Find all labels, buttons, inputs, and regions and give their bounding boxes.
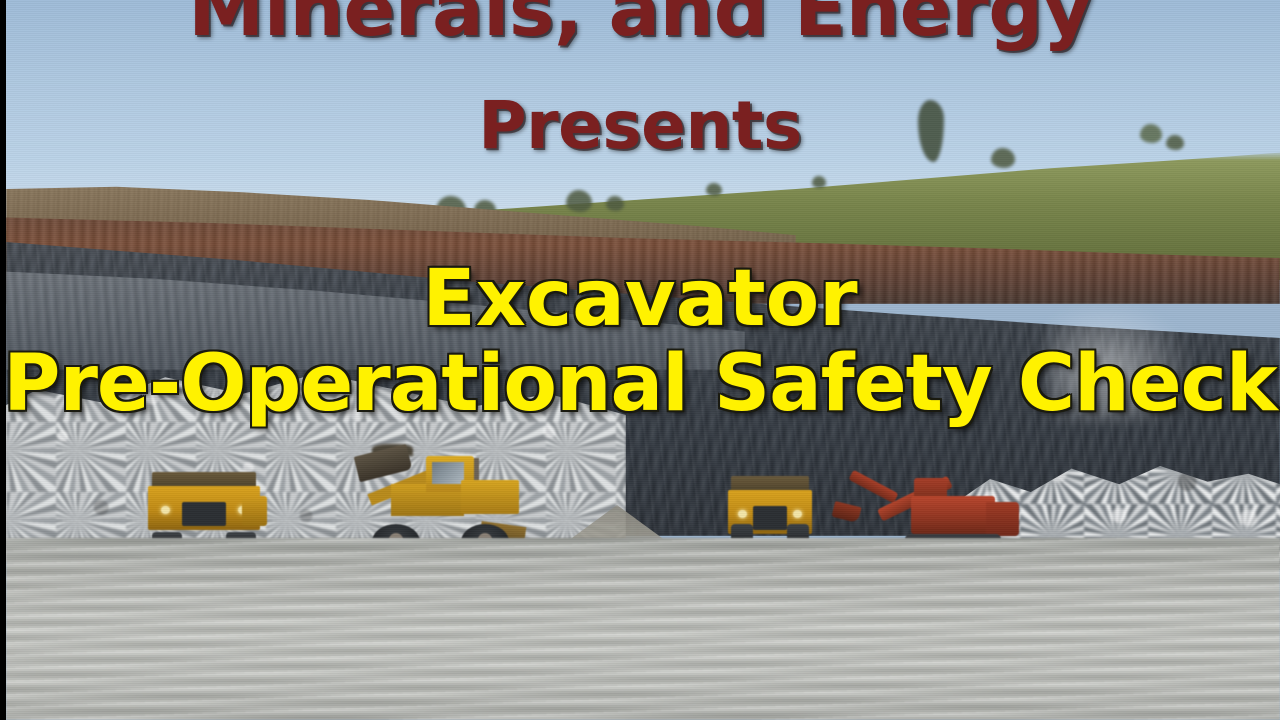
bush-icon (566, 190, 592, 212)
excavator-counterweight (986, 502, 1019, 536)
bush-icon (606, 196, 624, 211)
quarry-scene-photo (6, 0, 1280, 720)
gravel-pad-layer (6, 538, 1280, 720)
loader-bucket (353, 444, 412, 482)
dust-haze (1046, 300, 1196, 420)
headlight-icon (793, 510, 802, 518)
bush-icon (812, 176, 826, 188)
bush-icon (991, 148, 1015, 168)
truck-fender (242, 496, 267, 526)
loader-engine-hood (461, 480, 519, 514)
video-title-frame: Minerals, and Energy Presents Excavator … (0, 0, 1280, 720)
bush-icon (1166, 135, 1184, 150)
loader-exhaust-stack (474, 458, 479, 482)
excavator-upper-structure (911, 496, 995, 534)
truck-grille (753, 506, 787, 530)
truck-grille (182, 502, 227, 526)
loader-cab-glass (432, 462, 464, 484)
bush-icon (706, 183, 722, 196)
bush-icon (1140, 124, 1162, 143)
